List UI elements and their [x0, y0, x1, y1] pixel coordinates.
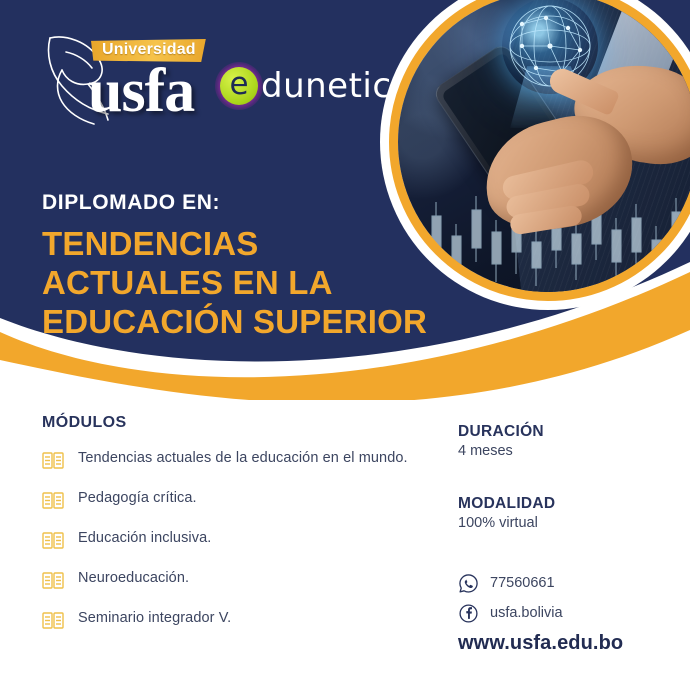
promotional-flyer: Universidad usfa e dunetic DIPLOMADO EN:…: [0, 0, 690, 690]
module-label: Neuroeducación.: [78, 569, 189, 589]
headline: TENDENCIAS ACTUALES EN LA EDUCACIÓN SUPE…: [42, 225, 462, 342]
headline-line-1: TENDENCIAS: [42, 225, 462, 264]
details-column: DURACIÓN 4 meses MODALIDAD 100% virtual …: [458, 423, 683, 653]
duration-label: DURACIÓN: [458, 423, 683, 440]
kicker-text: DIPLOMADO EN:: [42, 192, 462, 213]
open-book-icon: [42, 491, 64, 511]
modules-title: MÓDULOS: [42, 415, 422, 431]
facebook-contact[interactable]: usfa.bolivia: [458, 603, 683, 624]
module-label: Tendencias actuales de la educación en e…: [78, 449, 408, 469]
whatsapp-contact[interactable]: 77560661: [458, 573, 683, 594]
edunetic-wordmark: dunetic: [261, 69, 392, 103]
open-book-icon: [42, 531, 64, 551]
whatsapp-icon: [458, 573, 479, 594]
edunetic-mark-letter: e: [229, 69, 248, 100]
facebook-icon: [458, 603, 479, 624]
duration-value: 4 meses: [458, 442, 683, 461]
edunetic-logo[interactable]: e dunetic: [215, 62, 392, 110]
module-item: Educación inclusiva.: [42, 529, 422, 551]
open-book-icon: [42, 451, 64, 471]
logo-row: Universidad usfa e dunetic: [0, 0, 690, 150]
hero-section: Universidad usfa e dunetic DIPLOMADO EN:…: [0, 0, 690, 400]
edunetic-mark-icon: e: [215, 62, 263, 110]
modality-label: MODALIDAD: [458, 495, 683, 512]
modality-value: 100% virtual: [458, 514, 683, 533]
module-label: Seminario integrador V.: [78, 609, 231, 629]
open-book-icon: [42, 571, 64, 591]
usfa-wordmark: usfa: [88, 60, 194, 122]
module-item: Tendencias actuales de la educación en e…: [42, 449, 422, 471]
facebook-handle: usfa.bolivia: [490, 606, 563, 621]
headline-line-2: ACTUALES EN LA: [42, 264, 462, 303]
open-book-icon: [42, 611, 64, 631]
module-label: Educación inclusiva.: [78, 529, 211, 549]
contact-block: 77560661 usfa.bolivia www.usfa.edu.bo: [458, 573, 683, 653]
headline-line-3: EDUCACIÓN SUPERIOR: [42, 303, 462, 342]
module-item: Neuroeducación.: [42, 569, 422, 591]
module-label: Pedagogía crítica.: [78, 489, 197, 509]
modules-column: MÓDULOS Tendencias actuales de la educac…: [42, 415, 422, 631]
website-url[interactable]: www.usfa.edu.bo: [458, 633, 683, 653]
whatsapp-number: 77560661: [490, 576, 555, 591]
usfa-logo[interactable]: Universidad usfa: [36, 28, 196, 132]
module-item: Pedagogía crítica.: [42, 489, 422, 511]
module-item: Seminario integrador V.: [42, 609, 422, 631]
title-block: DIPLOMADO EN: TENDENCIAS ACTUALES EN LA …: [42, 192, 462, 342]
